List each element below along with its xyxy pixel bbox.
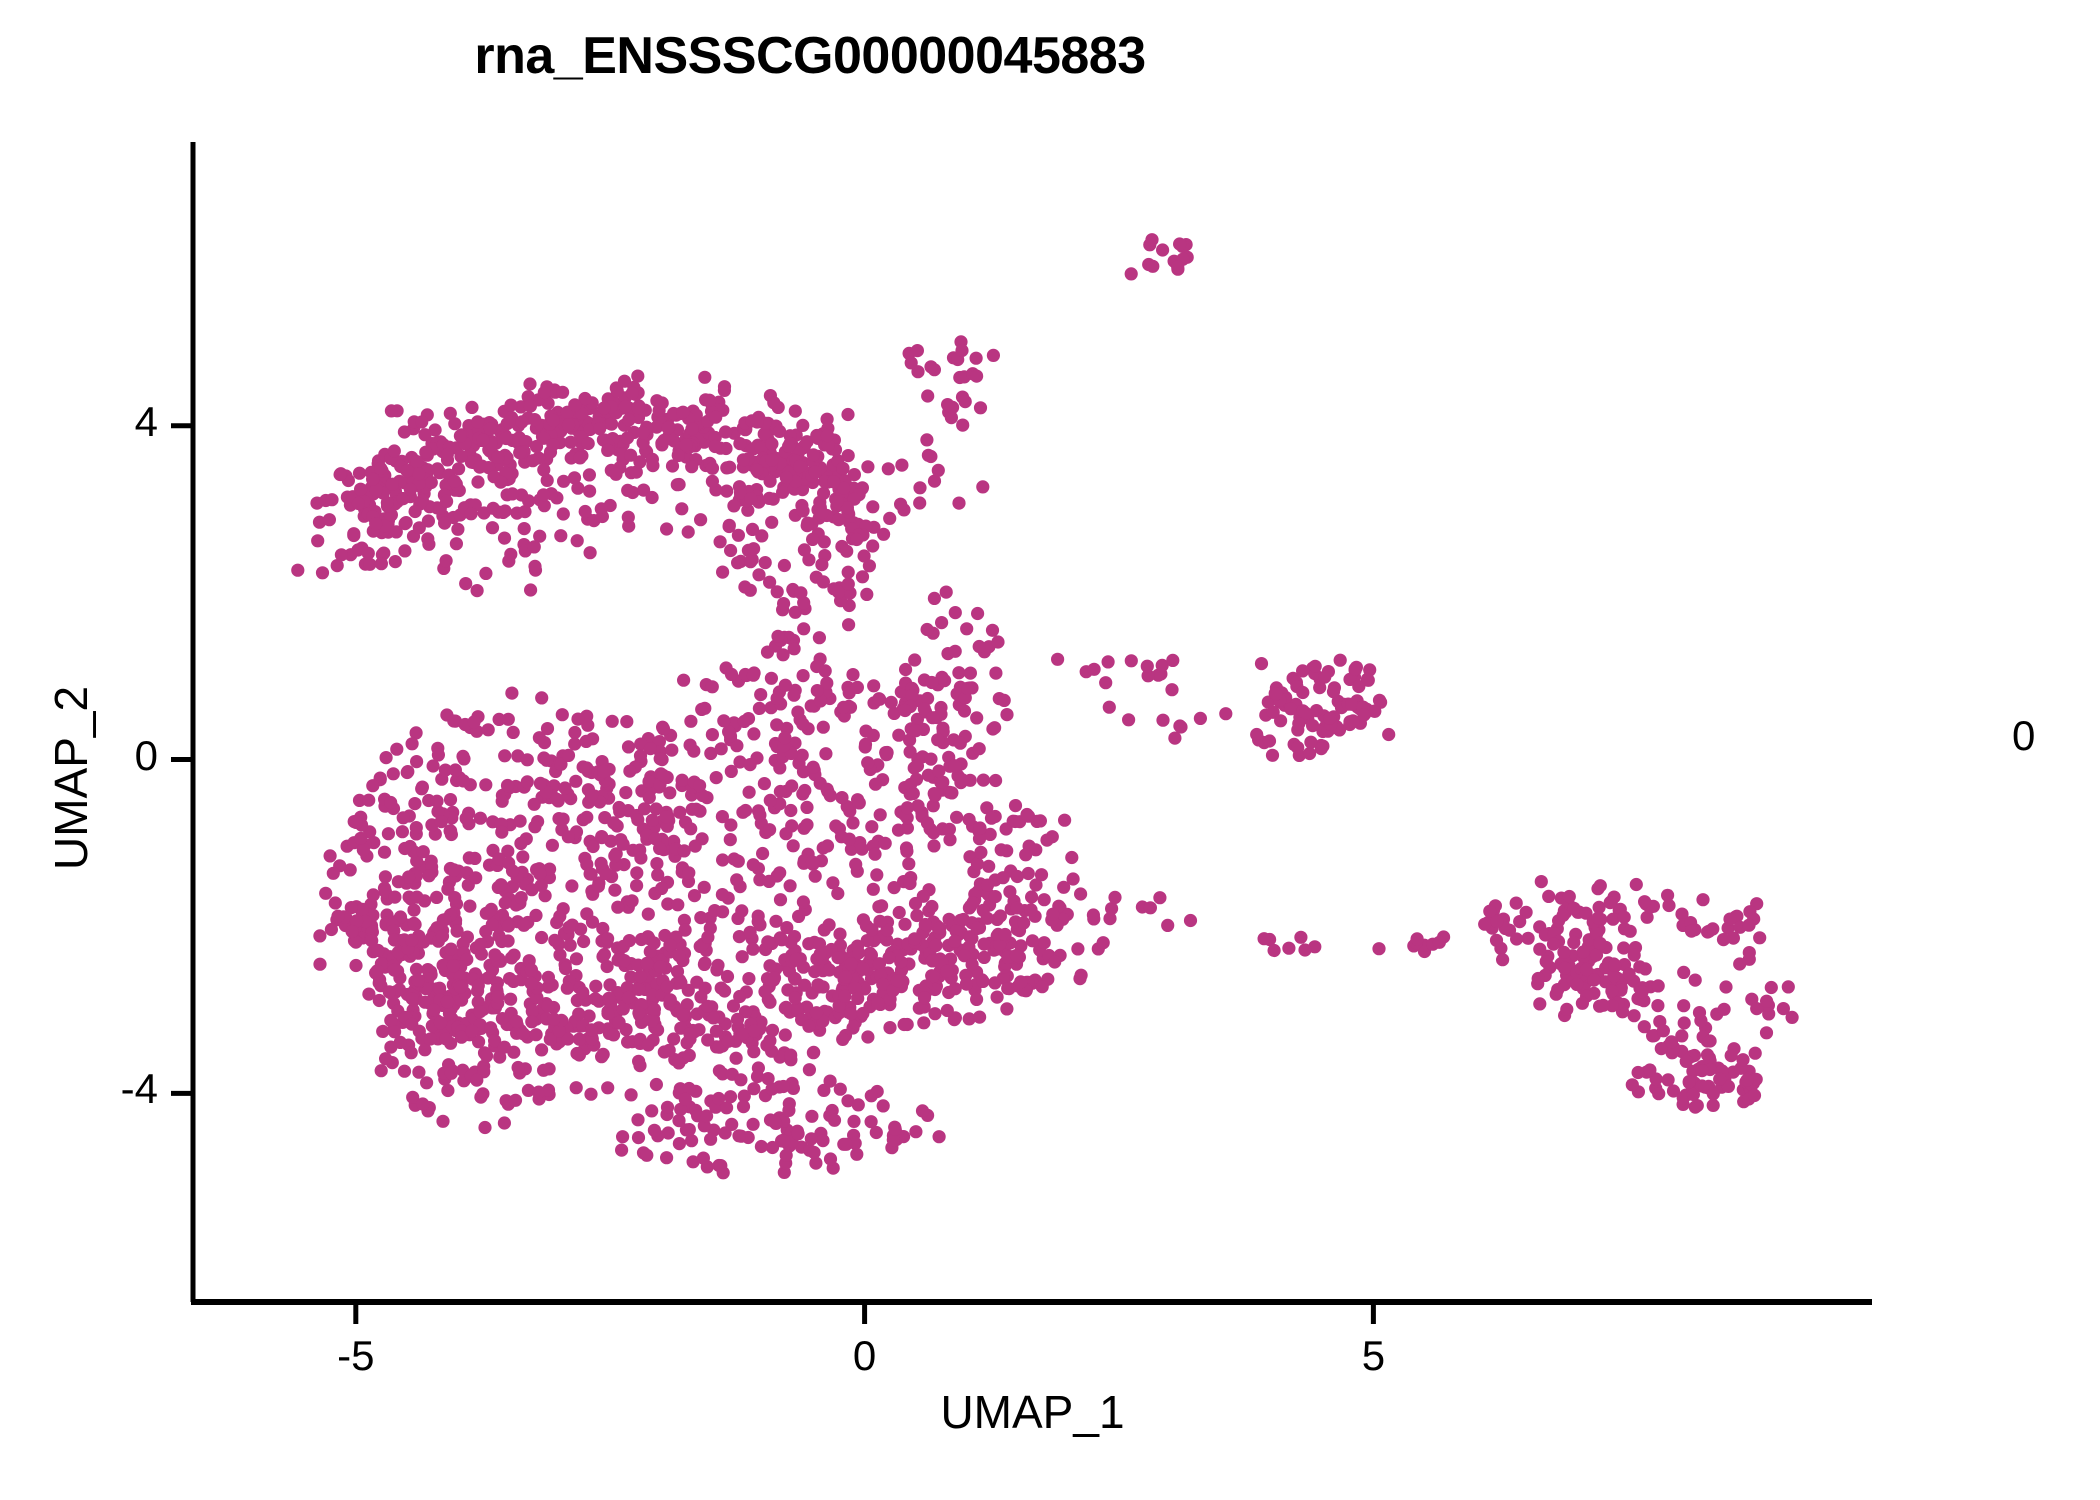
scatter-point xyxy=(877,1099,890,1112)
scatter-point xyxy=(473,461,486,474)
scatter-point xyxy=(888,881,901,894)
scatter-point xyxy=(710,1025,723,1038)
scatter-point xyxy=(1638,895,1651,908)
scatter-point xyxy=(815,558,828,571)
scatter-point xyxy=(1433,936,1446,949)
scatter-point xyxy=(657,434,670,447)
scatter-point xyxy=(375,1064,388,1077)
scatter-point xyxy=(1145,233,1158,246)
scatter-point xyxy=(354,832,367,845)
scatter-point xyxy=(782,1104,795,1117)
scatter-point xyxy=(1513,915,1526,928)
scatter-point xyxy=(376,1025,389,1038)
scatter-point xyxy=(474,812,487,825)
scatter-point xyxy=(767,396,780,409)
scatter-point xyxy=(613,1016,626,1029)
scatter-point xyxy=(479,567,492,580)
scatter-point xyxy=(1719,980,1732,993)
scatter-point xyxy=(439,1032,452,1045)
scatter-point xyxy=(970,352,983,365)
scatter-point xyxy=(703,394,716,407)
scatter-point xyxy=(1680,1055,1693,1068)
scatter-point xyxy=(724,1090,737,1103)
scatter-point xyxy=(763,996,776,1009)
scatter-point xyxy=(931,733,944,746)
scatter-point xyxy=(948,759,961,772)
scatter-point xyxy=(506,487,519,500)
scatter-point xyxy=(496,1012,509,1025)
scatter-point xyxy=(672,1056,685,1069)
scatter-point xyxy=(310,497,323,510)
scatter-point xyxy=(1141,660,1154,673)
scatter-point xyxy=(847,1115,860,1128)
scatter-point xyxy=(410,891,423,904)
scatter-point xyxy=(761,646,774,659)
scatter-point xyxy=(528,820,541,833)
scatter-point xyxy=(521,753,534,766)
scatter-point xyxy=(525,1015,538,1028)
scatter-point xyxy=(617,1002,630,1015)
scatter-point xyxy=(679,1093,692,1106)
scatter-point xyxy=(957,913,970,926)
scatter-point xyxy=(412,1066,425,1079)
scatter-point xyxy=(558,781,571,794)
scatter-point xyxy=(530,1028,543,1041)
scatter-point xyxy=(910,773,923,786)
scatter-point xyxy=(777,1135,790,1148)
scatter-point xyxy=(542,1000,555,1013)
scatter-point xyxy=(1306,719,1319,732)
scatter-point xyxy=(1270,687,1283,700)
scatter-point xyxy=(913,481,926,494)
scatter-point xyxy=(883,512,896,525)
scatter-point xyxy=(418,428,431,441)
scatter-point xyxy=(1696,1064,1709,1077)
scatter-point xyxy=(568,726,581,739)
scatter-point xyxy=(496,795,509,808)
scatter-point xyxy=(1105,902,1118,915)
scatter-point xyxy=(730,1052,743,1065)
scatter-point xyxy=(595,830,608,843)
scatter-point xyxy=(523,377,536,390)
scatter-point xyxy=(630,879,643,892)
scatter-point xyxy=(457,774,470,787)
scatter-point xyxy=(507,726,520,739)
scatter-point xyxy=(528,798,541,811)
scatter-point xyxy=(416,1097,429,1110)
scatter-point xyxy=(694,911,707,924)
scatter-point xyxy=(1282,942,1295,955)
scatter-point xyxy=(909,724,922,737)
scatter-point xyxy=(720,661,733,674)
scatter-point xyxy=(784,1049,797,1062)
scatter-point xyxy=(773,761,786,774)
legend-tick-left xyxy=(1927,736,1945,739)
scatter-point xyxy=(709,411,722,424)
scatter-point xyxy=(1522,932,1535,945)
scatter-point xyxy=(1558,962,1571,975)
scatter-point xyxy=(966,958,979,971)
scatter-point xyxy=(447,863,460,876)
scatter-point xyxy=(518,522,531,535)
scatter-point xyxy=(607,1028,620,1041)
scatter-point xyxy=(646,453,659,466)
scatter-point xyxy=(1067,872,1080,885)
scatter-point xyxy=(438,913,451,926)
scatter-point xyxy=(1685,925,1698,938)
scatter-point xyxy=(959,395,972,408)
scatter-point xyxy=(1294,931,1307,944)
scatter-point xyxy=(1617,941,1630,954)
scatter-point xyxy=(1268,944,1281,957)
scatter-point xyxy=(380,751,393,764)
scatter-point xyxy=(347,527,360,540)
scatter-point xyxy=(650,802,663,815)
legend-tick-label: 0 xyxy=(2012,712,2035,760)
scatter-point xyxy=(1753,931,1766,944)
scatter-point xyxy=(768,1116,781,1129)
scatter-point xyxy=(486,521,499,534)
scatter-point xyxy=(763,1034,776,1047)
scatter-point xyxy=(535,691,548,704)
scatter-point xyxy=(576,986,589,999)
scatter-point xyxy=(454,450,467,463)
scatter-point xyxy=(812,978,825,991)
scatter-point xyxy=(928,592,941,605)
scatter-point xyxy=(731,556,744,569)
scatter-point xyxy=(859,725,872,738)
scatter-point xyxy=(584,546,597,559)
scatter-point xyxy=(898,918,911,931)
scatter-point xyxy=(1696,893,1709,906)
scatter-point xyxy=(981,912,994,925)
scatter-point xyxy=(840,545,853,558)
scatter-point xyxy=(928,787,941,800)
scatter-point xyxy=(584,1088,597,1101)
scatter-point xyxy=(724,818,737,831)
scatter-point xyxy=(671,898,684,911)
scatter-point xyxy=(540,754,553,767)
scatter-point xyxy=(867,679,880,692)
scatter-point xyxy=(674,976,687,989)
scatter-point xyxy=(632,1007,645,1020)
scatter-point xyxy=(640,1149,653,1162)
scatter-point xyxy=(964,667,977,680)
scatter-point xyxy=(728,852,741,865)
scatter-point xyxy=(664,993,677,1006)
scatter-point xyxy=(472,979,485,992)
scatter-point xyxy=(1567,936,1580,949)
scatter-point xyxy=(601,1081,614,1094)
scatter-point xyxy=(988,976,1001,989)
scatter-point xyxy=(716,566,729,579)
scatter-point xyxy=(908,932,921,945)
scatter-point xyxy=(895,459,908,472)
scatter-point xyxy=(1310,704,1323,717)
scatter-point xyxy=(1704,1034,1717,1047)
scatter-point xyxy=(809,870,822,883)
scatter-point xyxy=(656,396,669,409)
scatter-point xyxy=(412,974,425,987)
scatter-point xyxy=(532,1086,545,1099)
scatter-point xyxy=(763,959,776,972)
scatter-point xyxy=(392,875,405,888)
plot-panel: UMAP_1 UMAP_2 -505 40-4 xyxy=(0,0,2100,1500)
scatter-point xyxy=(1038,893,1051,906)
scatter-point xyxy=(501,779,514,792)
scatter-point xyxy=(615,1144,628,1157)
scatter-point xyxy=(645,1104,658,1117)
scatter-point xyxy=(387,767,400,780)
scatter-point xyxy=(447,959,460,972)
scatter-point xyxy=(742,972,755,985)
scatter-point xyxy=(921,816,934,829)
scatter-point xyxy=(478,1121,491,1134)
scatter-point xyxy=(572,1007,585,1020)
scatter-point xyxy=(593,422,606,435)
scatter-point xyxy=(1707,1099,1720,1112)
scatter-point xyxy=(444,793,457,806)
scatter-point xyxy=(894,498,907,511)
scatter-point xyxy=(654,960,667,973)
scatter-point xyxy=(456,750,469,763)
scatter-point xyxy=(631,370,644,383)
scatter-point xyxy=(765,454,778,467)
scatter-point xyxy=(657,722,670,735)
scatter-point xyxy=(1496,953,1509,966)
scatter-point xyxy=(777,1080,790,1093)
scatter-point xyxy=(562,418,575,431)
scatter-point xyxy=(747,858,760,871)
scatter-point xyxy=(474,1091,487,1104)
scatter-point xyxy=(971,922,984,935)
scatter-point xyxy=(835,791,848,804)
scatter-point xyxy=(911,344,924,357)
scatter-point xyxy=(839,971,852,984)
scatter-point xyxy=(1626,1078,1639,1091)
scatter-point xyxy=(533,867,546,880)
scatter-point xyxy=(789,405,802,418)
scatter-point xyxy=(989,890,1002,903)
scatter-point xyxy=(422,869,435,882)
scatter-point xyxy=(502,919,515,932)
scatter-point xyxy=(1040,834,1053,847)
scatter-point xyxy=(500,432,513,445)
scatter-point xyxy=(802,553,815,566)
scatter-point xyxy=(967,896,980,909)
scatter-point xyxy=(1706,922,1719,935)
scatter-point xyxy=(1296,686,1309,699)
scatter-point xyxy=(958,704,971,717)
scatter-point xyxy=(684,822,697,835)
scatter-point xyxy=(1349,662,1362,675)
scatter-point xyxy=(920,433,933,446)
scatter-point xyxy=(650,1078,663,1091)
scatter-point xyxy=(759,556,772,569)
scatter-point xyxy=(925,900,938,913)
scatter-point xyxy=(844,1007,857,1020)
scatter-point xyxy=(970,993,983,1006)
scatter-point xyxy=(502,416,515,429)
scatter-point xyxy=(571,534,584,547)
scatter-point xyxy=(684,715,697,728)
scatter-point xyxy=(1168,732,1181,745)
scatter-point xyxy=(785,779,798,792)
scatter-point xyxy=(498,1041,511,1054)
scatter-point xyxy=(650,857,663,870)
scatter-point xyxy=(362,547,375,560)
scatter-point xyxy=(642,1038,655,1051)
scatter-point xyxy=(977,774,990,787)
scatter-point xyxy=(771,585,784,598)
scatter-point xyxy=(698,958,711,971)
scatter-point xyxy=(1171,260,1184,273)
scatter-point xyxy=(1740,1074,1753,1087)
scatter-point xyxy=(924,753,937,766)
scatter-point xyxy=(596,950,609,963)
scatter-point xyxy=(623,934,636,947)
scatter-point xyxy=(449,763,462,776)
scatter-point xyxy=(1219,707,1232,720)
scatter-point xyxy=(1567,902,1580,915)
scatter-point xyxy=(1742,919,1755,932)
scatter-point xyxy=(1483,905,1496,918)
scatter-point xyxy=(413,521,426,534)
scatter-point xyxy=(1296,664,1309,677)
scatter-point xyxy=(808,965,821,978)
scatter-point xyxy=(764,794,777,807)
scatter-point xyxy=(657,769,670,782)
scatter-point xyxy=(595,502,608,515)
scatter-point xyxy=(484,1021,497,1034)
scatter-point xyxy=(932,764,945,777)
scatter-point xyxy=(1108,891,1121,904)
scatter-point xyxy=(640,957,653,970)
scatter-point xyxy=(417,845,430,858)
scatter-point xyxy=(635,933,648,946)
scatter-point xyxy=(440,495,453,508)
scatter-point xyxy=(444,943,457,956)
scatter-point xyxy=(1024,903,1037,916)
scatter-point xyxy=(961,682,974,695)
scatter-point xyxy=(1733,957,1746,970)
scatter-point xyxy=(849,858,862,871)
scatter-point xyxy=(407,917,420,930)
scatter-point xyxy=(976,975,989,988)
scatter-point xyxy=(371,964,384,977)
scatter-point xyxy=(516,850,529,863)
scatter-point xyxy=(866,539,879,552)
scatter-point xyxy=(821,429,834,442)
y-tick-label: 0 xyxy=(0,732,158,780)
scatter-point xyxy=(556,708,569,721)
scatter-point xyxy=(994,909,1007,922)
scatter-point xyxy=(541,722,554,735)
scatter-point xyxy=(744,758,757,771)
scatter-point xyxy=(447,714,460,727)
scatter-point xyxy=(991,991,1004,1004)
scatter-point xyxy=(329,896,342,909)
scatter-point xyxy=(932,464,945,477)
scatter-point xyxy=(819,747,832,760)
scatter-point xyxy=(811,684,824,697)
scatter-point xyxy=(999,928,1012,941)
scatter-point xyxy=(550,793,563,806)
scatter-point xyxy=(761,935,774,948)
scatter-point xyxy=(1605,985,1618,998)
scatter-point xyxy=(831,495,844,508)
scatter-point xyxy=(780,471,793,484)
scatter-point xyxy=(770,718,783,731)
scatter-point xyxy=(661,980,674,993)
scatter-point xyxy=(1478,918,1491,931)
scatter-point xyxy=(778,731,791,744)
scatter-point xyxy=(556,386,569,399)
scatter-point xyxy=(778,559,791,572)
scatter-point xyxy=(910,909,923,922)
scatter-point xyxy=(482,723,495,736)
scatter-point xyxy=(791,706,804,719)
scatter-point xyxy=(758,777,771,790)
scatter-point xyxy=(621,484,634,497)
scatter-point xyxy=(493,713,506,726)
scatter-point xyxy=(353,467,366,480)
scatter-point xyxy=(911,759,924,772)
scatter-point xyxy=(683,1027,696,1040)
scatter-point xyxy=(1547,938,1560,951)
scatter-point xyxy=(836,1033,849,1046)
scatter-point xyxy=(771,692,784,705)
scatter-point xyxy=(685,422,698,435)
scatter-point xyxy=(384,796,397,809)
scatter-point xyxy=(873,915,886,928)
scatter-point xyxy=(899,704,912,717)
scatter-point xyxy=(817,575,830,588)
scatter-point xyxy=(754,688,767,701)
scatter-point xyxy=(666,459,679,472)
scatter-point xyxy=(356,903,369,916)
scatter-point xyxy=(800,801,813,814)
scatter-point xyxy=(856,962,869,975)
scatter-point xyxy=(764,475,777,488)
scatter-point xyxy=(537,488,550,501)
scatter-point xyxy=(698,371,711,384)
scatter-point xyxy=(1020,808,1033,821)
scatter-point xyxy=(634,970,647,983)
scatter-point xyxy=(763,492,776,505)
scatter-point xyxy=(352,497,365,510)
scatter-point xyxy=(602,992,615,1005)
scatter-point xyxy=(450,537,463,550)
scatter-point xyxy=(1636,985,1649,998)
scatter-point xyxy=(611,901,624,914)
scatter-point xyxy=(1161,919,1174,932)
scatter-point xyxy=(870,1126,883,1139)
scatter-point xyxy=(515,415,528,428)
scatter-point xyxy=(366,473,379,486)
scatter-point xyxy=(654,752,667,765)
scatter-point xyxy=(378,846,391,859)
scatter-point xyxy=(1630,878,1643,891)
scatter-point xyxy=(800,818,813,831)
scatter-point xyxy=(935,616,948,629)
scatter-point xyxy=(949,645,962,658)
scatter-point xyxy=(1592,912,1605,925)
scatter-point xyxy=(872,900,885,913)
scatter-point xyxy=(514,815,527,828)
scatter-point xyxy=(1661,889,1674,902)
scatter-point xyxy=(401,765,414,778)
